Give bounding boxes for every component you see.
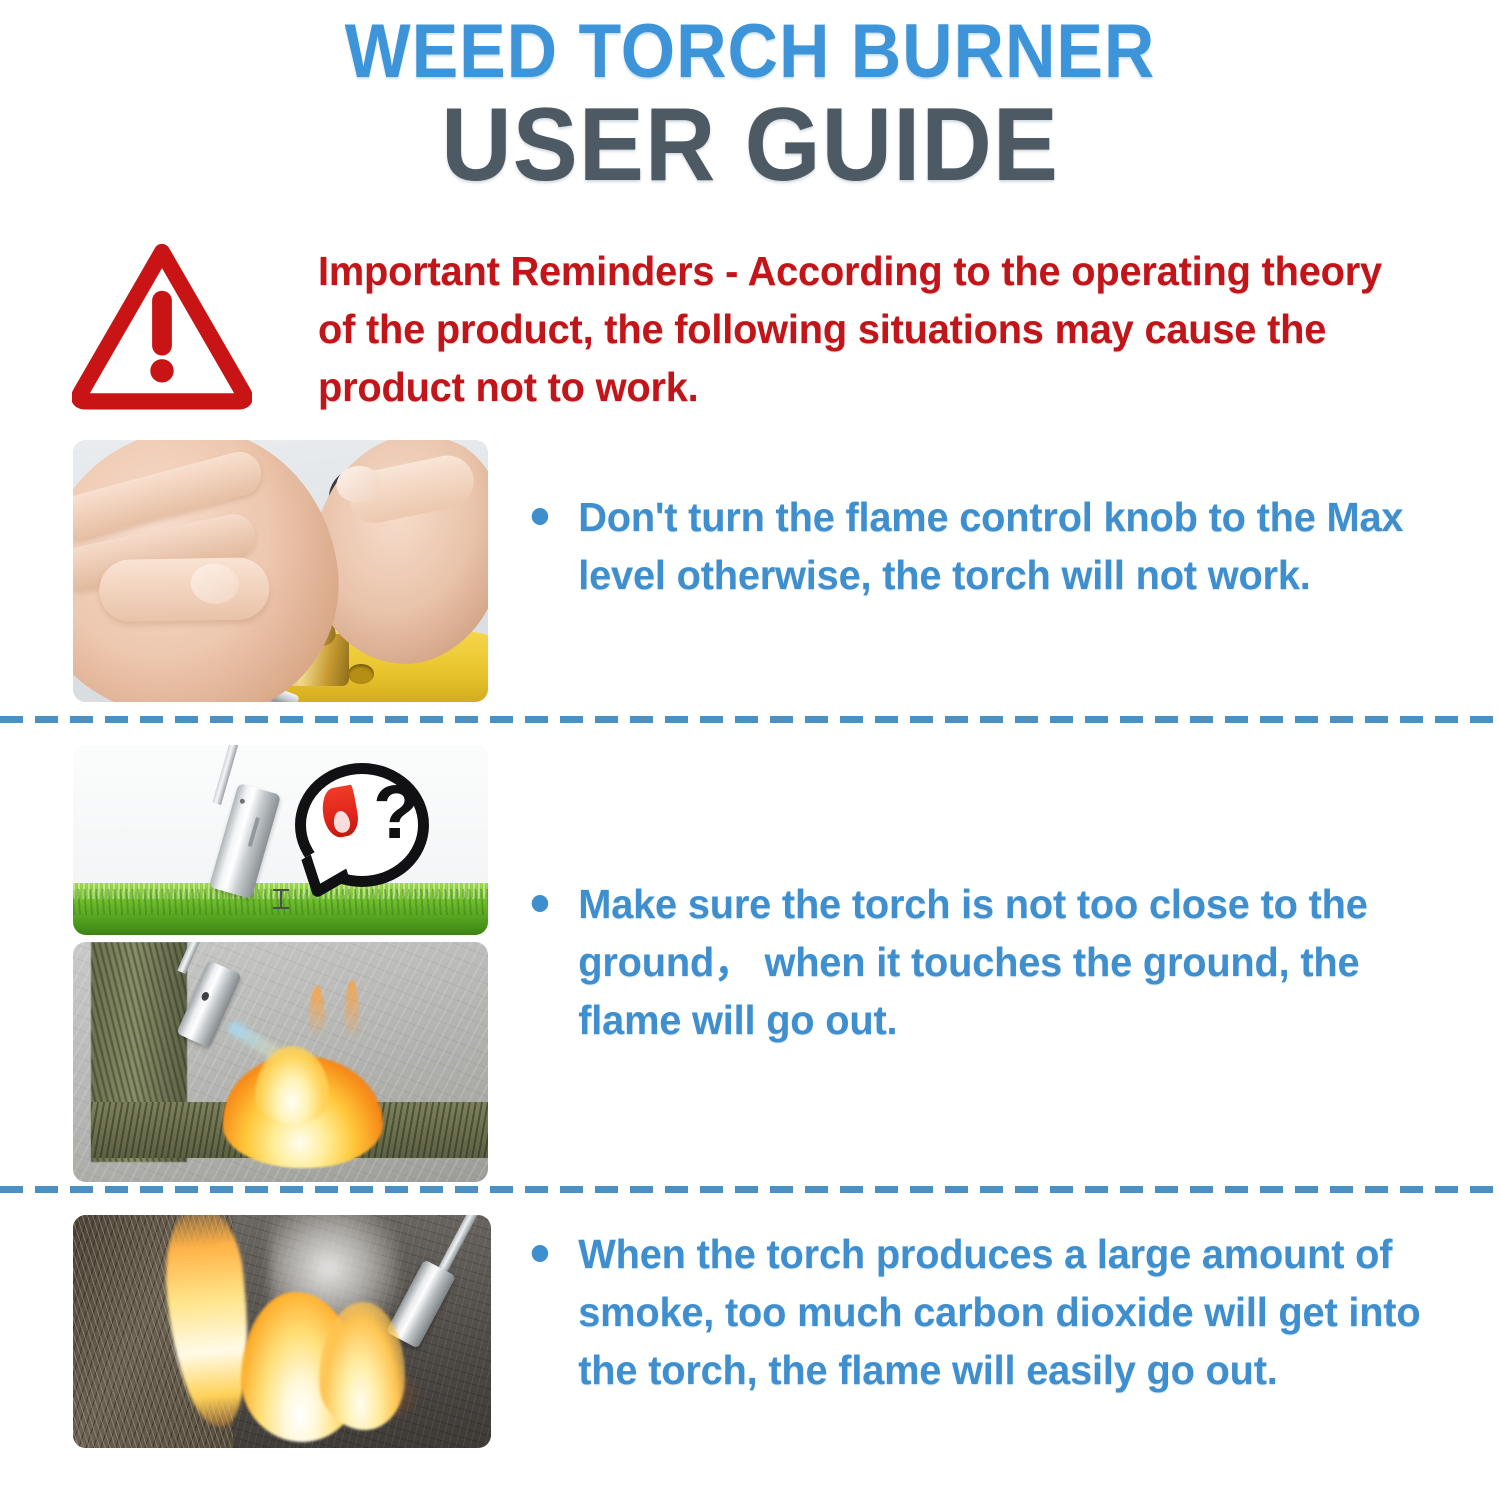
bullet-dot-icon xyxy=(532,895,548,912)
reminder-bullet-1-text: Don't turn the flame control knob to the… xyxy=(578,494,1403,598)
section-divider xyxy=(0,1186,1500,1193)
user-guide-page: WEED TORCH BURNER USER GUIDE Important R… xyxy=(0,0,1500,1500)
bullet-column: Make sure the torch is not too close to … xyxy=(522,875,1482,1050)
bullet-dot-icon xyxy=(532,1245,548,1262)
reminder-bullet-1: Don't turn the flame control knob to the… xyxy=(522,488,1424,604)
title-primary: WEED TORCH BURNER xyxy=(60,14,1440,90)
bullet-dot-icon xyxy=(532,508,548,525)
reminder-section-1: Don't turn the flame control knob to the… xyxy=(0,440,1500,716)
photo-burning-weeds-pavement xyxy=(73,942,488,1182)
important-reminders-text: Important Reminders - According to the o… xyxy=(318,242,1395,417)
section-divider xyxy=(0,716,1500,723)
reminder-bullet-3-text: When the torch produces a large amount o… xyxy=(578,1231,1420,1393)
distance-indicator-icon xyxy=(280,889,282,909)
reminder-bullet-2-text: Make sure the torch is not too close to … xyxy=(578,881,1367,1043)
bullet-column: When the torch produces a large amount o… xyxy=(522,1225,1482,1400)
photo-large-flames-smoke xyxy=(73,1215,491,1448)
reminder-bullet-2: Make sure the torch is not too close to … xyxy=(522,875,1453,1050)
bullet-column: Don't turn the flame control knob to the… xyxy=(522,488,1452,604)
warning-triangle-icon xyxy=(72,234,252,414)
title-secondary: USER GUIDE xyxy=(45,92,1455,198)
photo-knob-adjustment xyxy=(73,440,488,702)
reminder-section-3: When the torch produces a large amount o… xyxy=(0,1215,1500,1500)
important-reminders-block: Important Reminders - According to the o… xyxy=(0,228,1500,423)
photo-column: ? xyxy=(73,745,488,1182)
photo-column xyxy=(73,440,488,702)
question-mark-icon: ? xyxy=(373,775,419,851)
photo-torch-above-grass: ? xyxy=(73,745,488,935)
photo-column xyxy=(73,1215,491,1448)
reminder-bullet-3: When the torch produces a large amount o… xyxy=(522,1225,1453,1400)
reminder-section-2: ? Make sure the t xyxy=(0,745,1500,1186)
page-title: WEED TORCH BURNER USER GUIDE xyxy=(0,14,1500,198)
